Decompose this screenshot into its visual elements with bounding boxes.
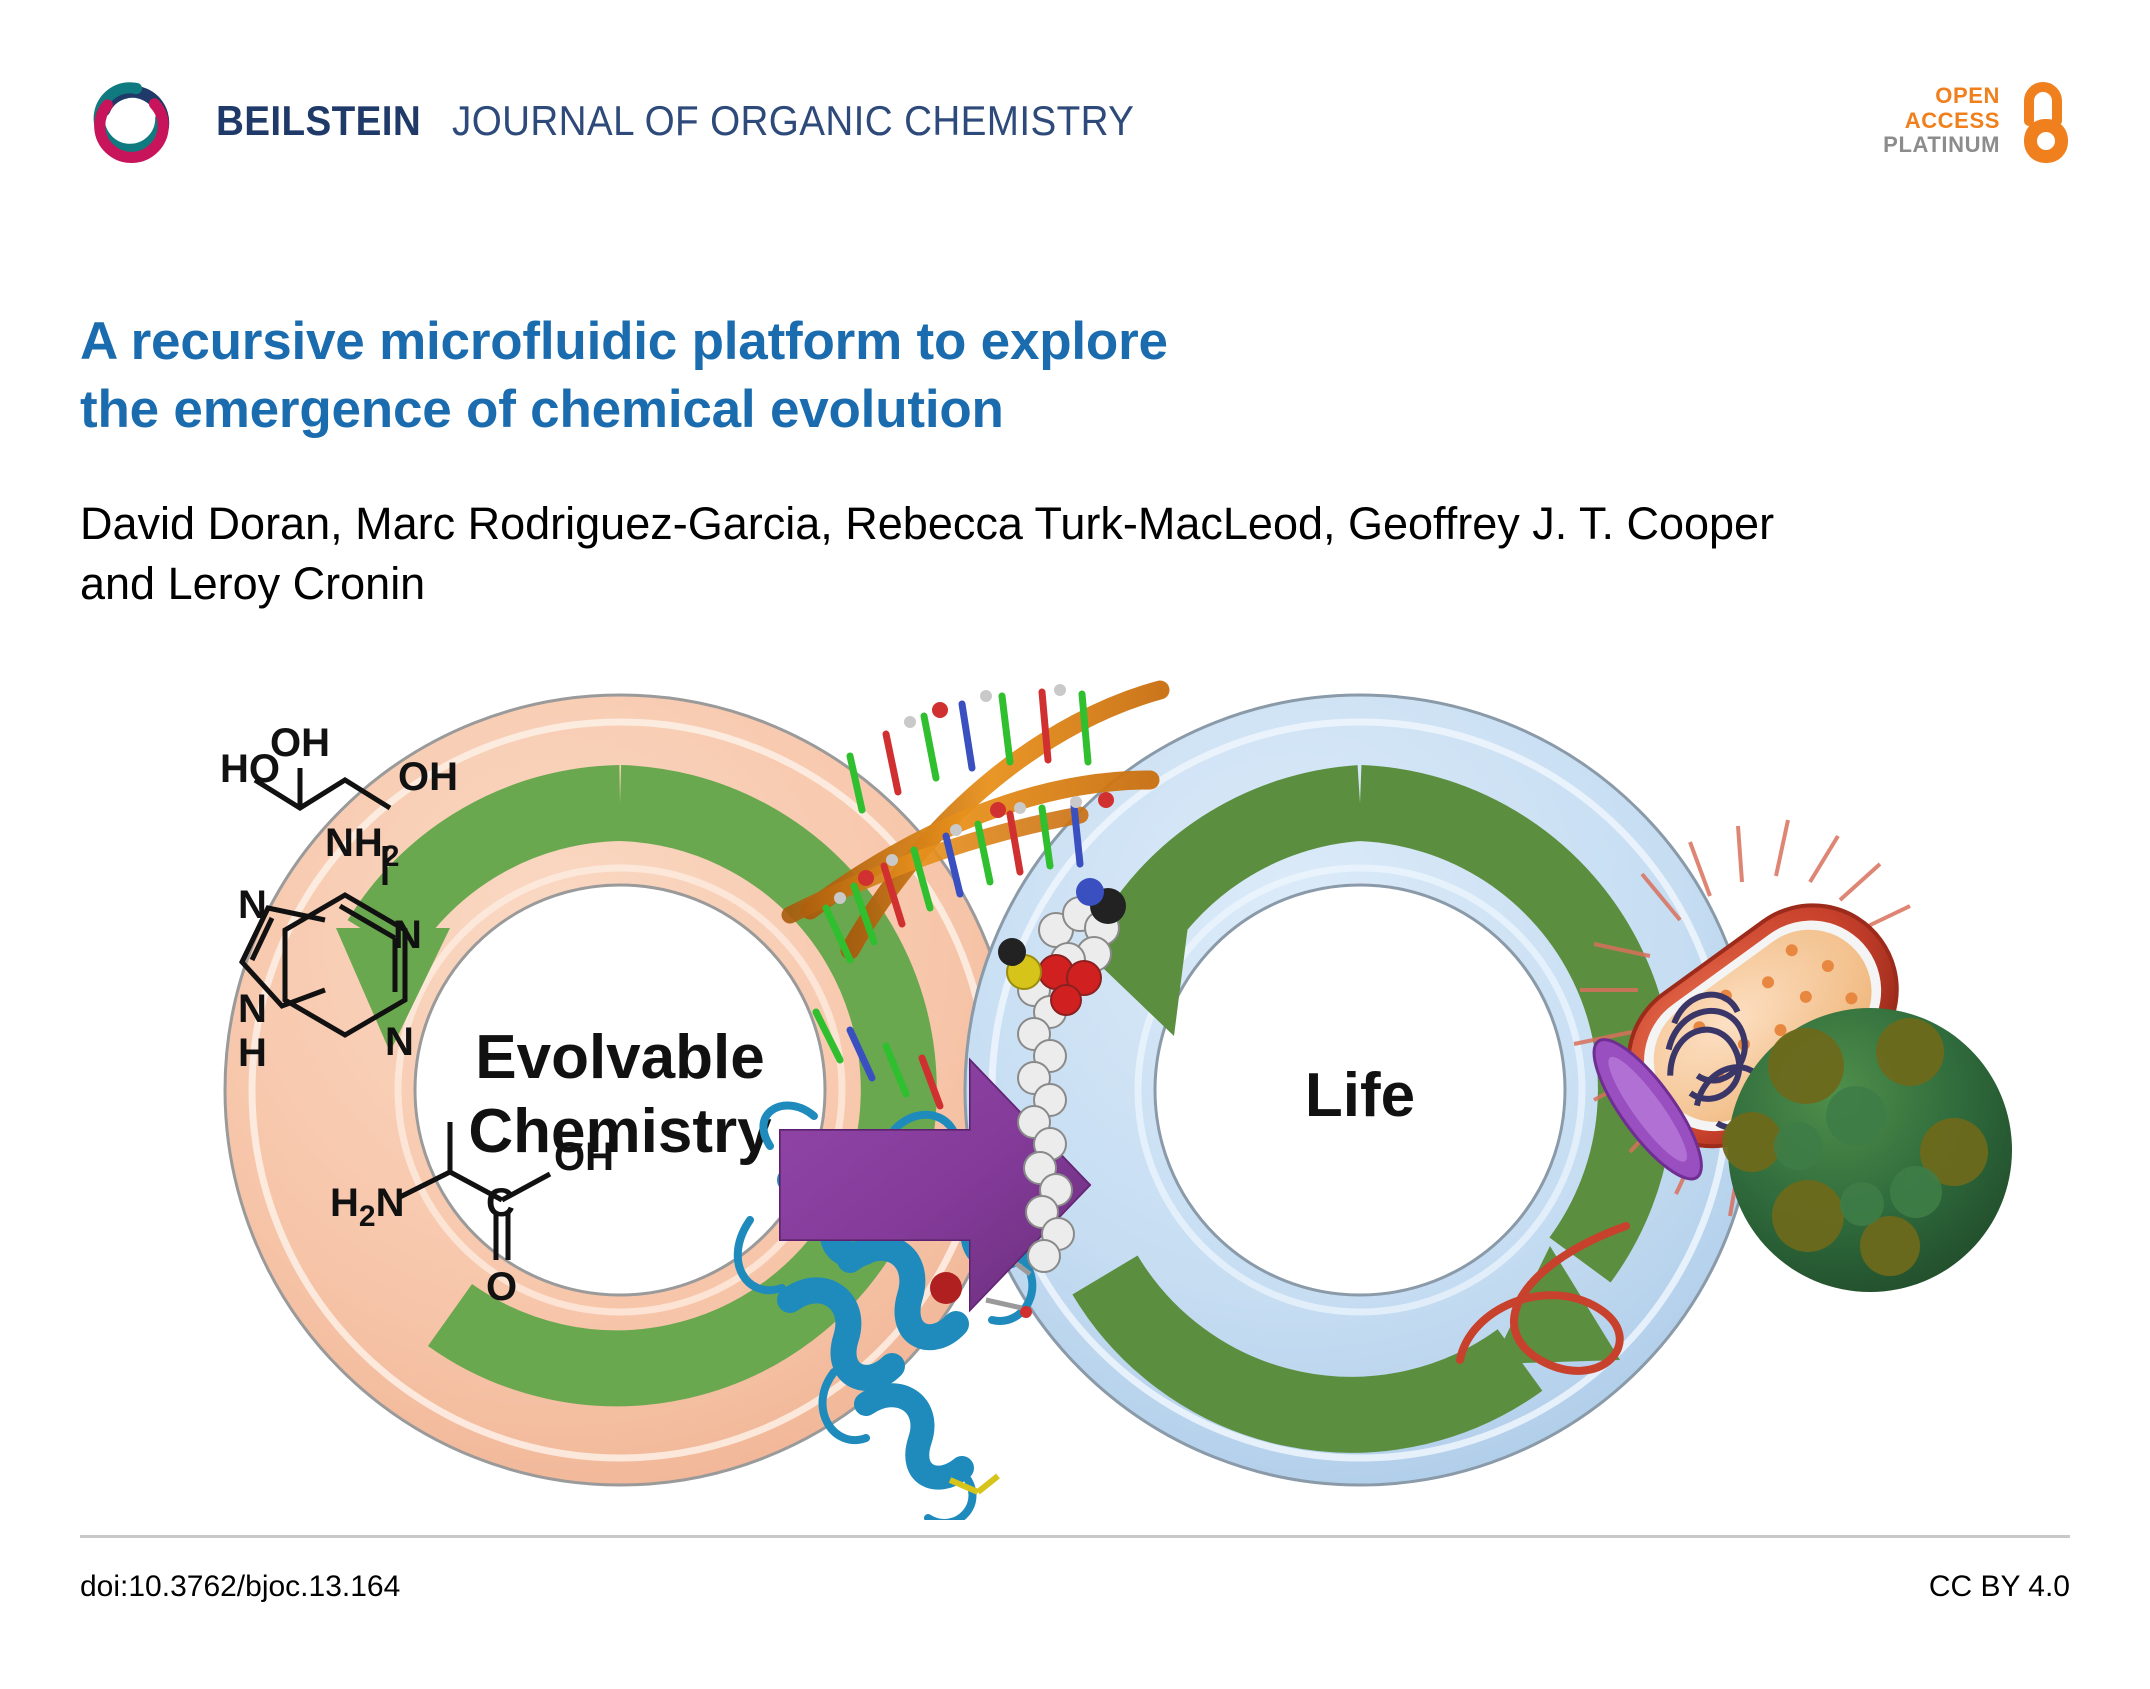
evolvable-chemistry-label-line1: Evolvable xyxy=(475,1023,764,1092)
alanine-hydroxyl-label: OH xyxy=(554,1135,614,1179)
journal-brand: BEILSTEIN JOURNAL OF ORGANIC CHEMISTRY xyxy=(78,65,1194,177)
author-list: David Doran, Marc Rodriguez-Garcia, Rebe… xyxy=(80,494,2070,614)
open-access-access-label: ACCESS xyxy=(1905,109,2000,134)
wordmark-journal-of-organic-chemistry: JOURNAL OF ORGANIC CHEMISTRY xyxy=(452,97,1134,145)
graphical-abstract-figure: Evolvable Chemistry HO OH OH xyxy=(150,660,2030,1520)
alanine-carbon-label: C xyxy=(486,1181,515,1225)
heme-iron-atom xyxy=(930,1272,962,1304)
wordmark-beilstein: BEILSTEIN xyxy=(216,97,421,145)
license-text[interactable]: CC BY 4.0 xyxy=(1929,1570,2070,1604)
beilstein-logo-icon xyxy=(78,65,190,177)
open-padlock-icon xyxy=(2010,77,2072,165)
glycerol-label-oh-right: OH xyxy=(398,755,458,799)
glycerol-label-oh-top: OH xyxy=(270,721,330,765)
article-title: A recursive microfluidic platform to exp… xyxy=(80,308,1600,446)
masthead: BEILSTEIN JOURNAL OF ORGANIC CHEMISTRY O… xyxy=(78,62,2072,180)
open-access-text: OPEN ACCESS PLATINUM xyxy=(1883,84,2000,158)
open-access-platinum-label: PLATINUM xyxy=(1883,133,2000,158)
adenine-label-n9: N xyxy=(238,987,267,1031)
article-title-line-1: A recursive microfluidic platform to exp… xyxy=(80,308,1600,377)
article-title-line-2: the emergence of chemical evolution xyxy=(80,376,1600,445)
open-access-open-label: OPEN xyxy=(1935,84,2000,109)
footer-divider xyxy=(80,1535,2070,1538)
journal-wordmark: BEILSTEIN JOURNAL OF ORGANIC CHEMISTRY xyxy=(216,97,1194,145)
open-access-badge: OPEN ACCESS PLATINUM xyxy=(1883,77,2072,165)
author-list-line-1: David Doran, Marc Rodriguez-Garcia, Rebe… xyxy=(80,494,2070,554)
adenine-label-n3: N xyxy=(385,1020,414,1064)
adenine-label-n1: N xyxy=(393,913,422,957)
footer: doi:10.3762/bjoc.13.164 CC BY 4.0 xyxy=(80,1570,2070,1604)
doi-text[interactable]: doi:10.3762/bjoc.13.164 xyxy=(80,1570,400,1604)
evolvable-chemistry-label-line2: Chemistry xyxy=(468,1097,772,1166)
graphical-abstract-page: BEILSTEIN JOURNAL OF ORGANIC CHEMISTRY O… xyxy=(0,0,2150,1689)
figure-canvas: Evolvable Chemistry HO OH OH xyxy=(150,660,2030,1520)
life-label: Life xyxy=(1305,1061,1415,1130)
adenine-label-h9: H xyxy=(238,1031,267,1075)
author-list-line-2: and Leroy Cronin xyxy=(80,554,2070,614)
adenine-label-n7: N xyxy=(238,883,267,927)
alanine-oxygen-label: O xyxy=(486,1265,517,1309)
